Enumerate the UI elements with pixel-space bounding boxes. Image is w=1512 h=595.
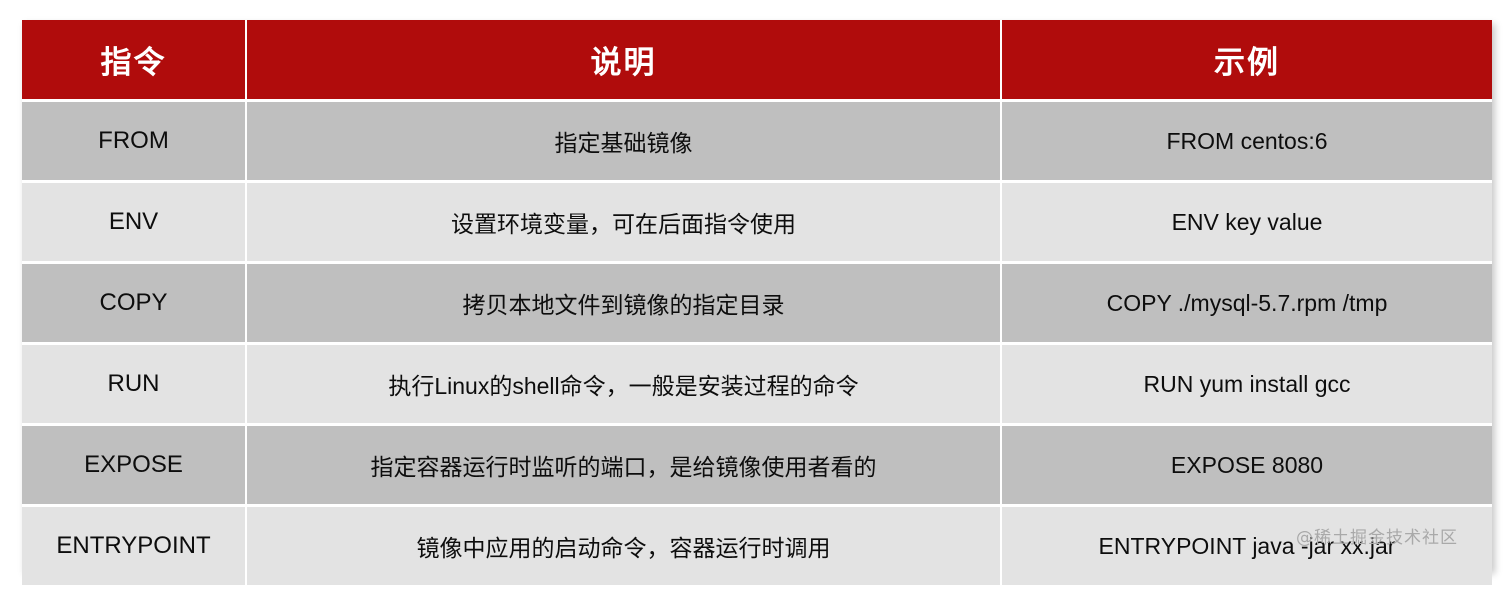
table-row: ENV 设置环境变量，可在后面指令使用 ENV key value <box>22 180 1492 261</box>
cell-command: ENTRYPOINT <box>22 504 247 585</box>
cell-description: 指定基础镜像 <box>247 99 1002 180</box>
cell-example: EXPOSE 8080 <box>1002 423 1492 504</box>
cell-command: COPY <box>22 261 247 342</box>
column-header-description: 说明 <box>247 20 1002 99</box>
table-row: EXPOSE 指定容器运行时监听的端口，是给镜像使用者看的 EXPOSE 808… <box>22 423 1492 504</box>
cell-description: 拷贝本地文件到镜像的指定目录 <box>247 261 1002 342</box>
dockerfile-instruction-table: 指令 说明 示例 FROM 指定基础镜像 FROM centos:6 ENV 设… <box>22 20 1492 570</box>
cell-example: ENV key value <box>1002 180 1492 261</box>
table-row: COPY 拷贝本地文件到镜像的指定目录 COPY ./mysql-5.7.rpm… <box>22 261 1492 342</box>
cell-command: ENV <box>22 180 247 261</box>
header-row: 指令 说明 示例 <box>22 20 1492 99</box>
cell-example: COPY ./mysql-5.7.rpm /tmp <box>1002 261 1492 342</box>
table-body: FROM 指定基础镜像 FROM centos:6 ENV 设置环境变量，可在后… <box>22 99 1492 585</box>
column-header-example: 示例 <box>1002 20 1492 99</box>
instruction-table: 指令 说明 示例 FROM 指定基础镜像 FROM centos:6 ENV 设… <box>22 20 1492 585</box>
cell-command: FROM <box>22 99 247 180</box>
cell-example: ENTRYPOINT java -jar xx.jar <box>1002 504 1492 585</box>
table-header: 指令 说明 示例 <box>22 20 1492 99</box>
table-row: ENTRYPOINT 镜像中应用的启动命令，容器运行时调用 ENTRYPOINT… <box>22 504 1492 585</box>
cell-command: EXPOSE <box>22 423 247 504</box>
cell-description: 执行Linux的shell命令，一般是安装过程的命令 <box>247 342 1002 423</box>
cell-description: 设置环境变量，可在后面指令使用 <box>247 180 1002 261</box>
cell-example: FROM centos:6 <box>1002 99 1492 180</box>
table-row: FROM 指定基础镜像 FROM centos:6 <box>22 99 1492 180</box>
cell-example: RUN yum install gcc <box>1002 342 1492 423</box>
cell-command: RUN <box>22 342 247 423</box>
table-row: RUN 执行Linux的shell命令，一般是安装过程的命令 RUN yum i… <box>22 342 1492 423</box>
cell-description: 镜像中应用的启动命令，容器运行时调用 <box>247 504 1002 585</box>
column-header-command: 指令 <box>22 20 247 99</box>
cell-description: 指定容器运行时监听的端口，是给镜像使用者看的 <box>247 423 1002 504</box>
